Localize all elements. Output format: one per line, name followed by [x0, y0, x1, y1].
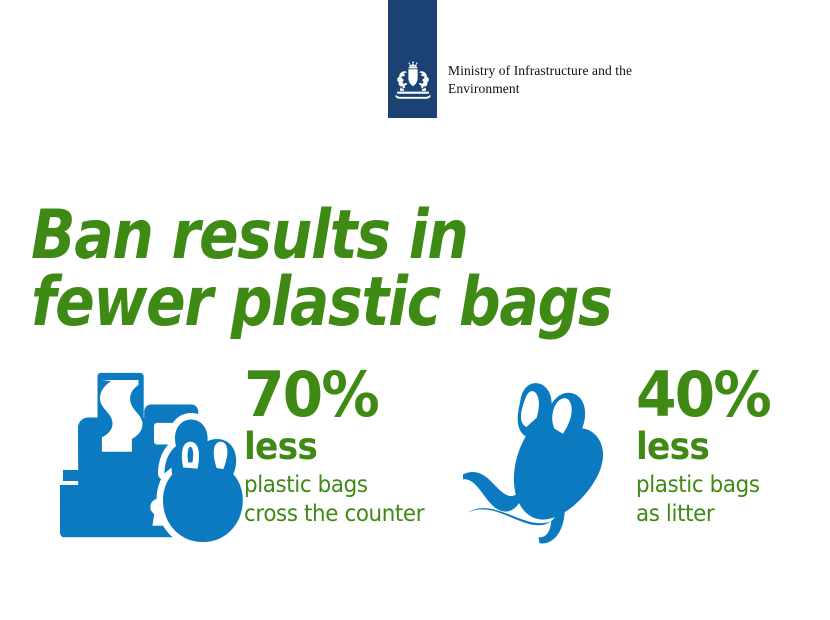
stat-percent: 40% — [636, 366, 770, 424]
ministry-name-line-1: Ministry of Infrastructure and the — [448, 62, 673, 80]
infographic-poster: Ministry of Infrastructure and the Envir… — [0, 0, 830, 620]
ministry-name-line-2: Environment — [448, 80, 673, 98]
stat-qualifier: less — [636, 427, 768, 467]
stat-description-line-2: cross the counter — [244, 500, 424, 529]
plastic-bag-blowing-as-litter-icon — [458, 366, 638, 556]
stat-text-litter: 40% less plastic bags as litter — [636, 366, 778, 529]
stat-qualifier: less — [244, 427, 424, 467]
stat-percent: 70% — [244, 366, 426, 424]
stat-block-counter: 70% less plastic bags cross the counter — [38, 366, 448, 566]
dutch-government-coat-of-arms-icon — [391, 60, 435, 104]
stat-description: plastic bags cross the counter — [244, 471, 424, 529]
logo-navy-bar — [388, 0, 437, 118]
ministry-logo: Ministry of Infrastructure and the Envir… — [388, 0, 673, 118]
cash-register-with-plastic-bag-icon — [38, 366, 243, 556]
stat-description-line-2: as litter — [636, 500, 768, 529]
stat-description: plastic bags as litter — [636, 471, 768, 529]
ministry-name: Ministry of Infrastructure and the Envir… — [448, 62, 673, 98]
stat-description-line-1: plastic bags — [244, 471, 424, 500]
page-title: Ban results in fewer plastic bags — [31, 202, 599, 337]
statistics-row: 70% less plastic bags cross the counter — [0, 366, 830, 566]
stat-description-line-1: plastic bags — [636, 471, 768, 500]
headline-line-1: Ban results in — [31, 202, 599, 269]
stat-block-litter: 40% less plastic bags as litter — [458, 366, 830, 566]
headline-line-2: fewer plastic bags — [31, 269, 599, 336]
stat-text-counter: 70% less plastic bags cross the counter — [244, 366, 438, 529]
